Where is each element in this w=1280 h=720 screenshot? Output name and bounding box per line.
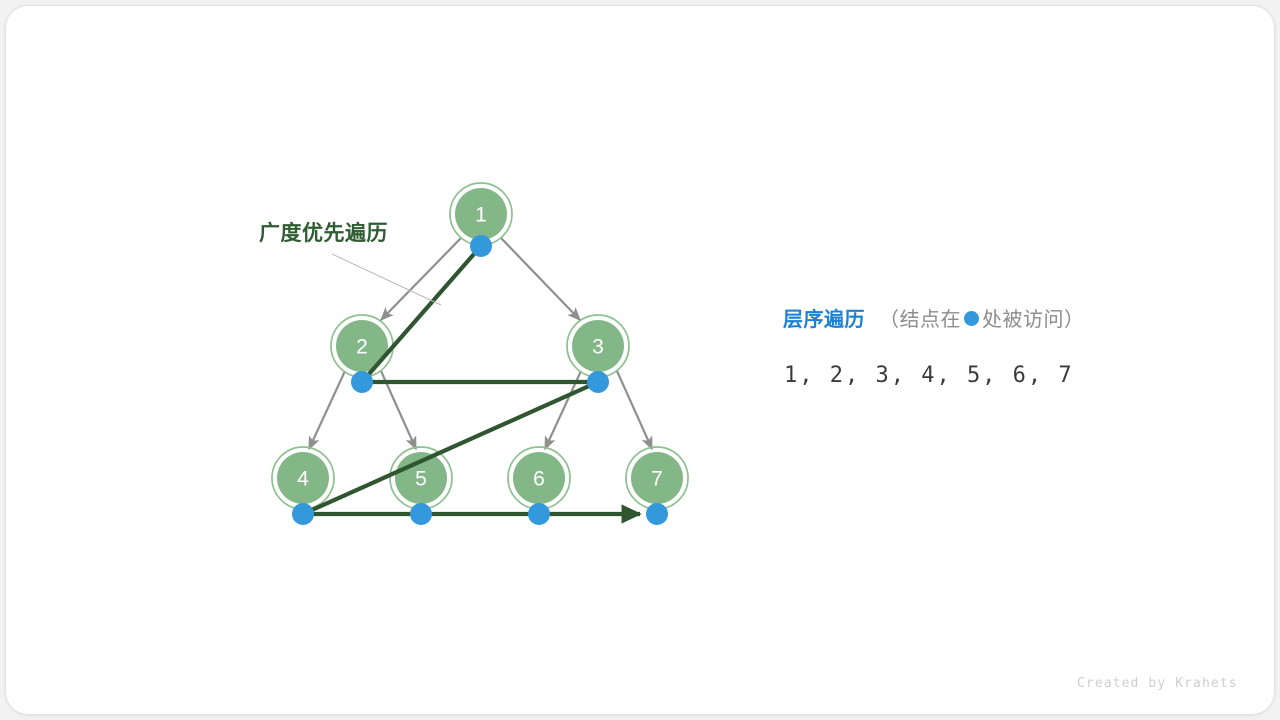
node-3-visit-dot[interactable] [587,371,609,393]
tree-node-2[interactable]: 2 [331,315,393,377]
bfs-label-leader-line [332,254,441,305]
node-5-visit-dot[interactable] [410,503,432,525]
legend-paren-before: （结点在 [879,303,961,332]
node-5-label: 5 [415,468,427,491]
screenshot-stage: 1 2 3 4 5 [0,0,1280,720]
blue-dot-icon [964,311,979,326]
node-6-visit-dot[interactable] [528,503,550,525]
tree-node-5[interactable]: 5 [390,447,452,509]
node-7-visit-dot[interactable] [646,503,668,525]
tree-edge-1-2 [381,238,461,320]
tree-edge-3-7 [617,371,652,449]
node-2-visit-dot[interactable] [351,371,373,393]
node-4-label: 4 [297,468,309,491]
tree-node-7[interactable]: 7 [626,447,688,509]
tree-node-4[interactable]: 4 [272,447,334,509]
node-3-label: 3 [592,336,604,359]
node-1-label: 1 [475,204,487,227]
tree-node-6[interactable]: 6 [508,447,570,509]
legend-paren-after: 处被访问） [982,303,1085,332]
legend: 层序遍历 （结点在 处被访问） [783,303,1085,332]
node-1-visit-dot[interactable] [470,235,492,257]
tree-edge-1-3 [501,238,580,320]
tree-node-3[interactable]: 3 [567,315,629,377]
node-2-label: 2 [356,336,368,359]
tree-diagram: 1 2 3 4 5 [0,0,1280,720]
node-4-visit-dot[interactable] [292,503,314,525]
path-segment-1-2 [362,246,481,382]
legend-title: 层序遍历 [783,303,865,332]
traversal-sequence: 1, 2, 3, 4, 5, 6, 7 [784,363,1074,388]
node-6-label: 6 [533,468,545,491]
tree-edge-2-4 [309,371,345,449]
credit-text: Created by Krahets [1077,676,1238,691]
bfs-label: 广度优先遍历 [259,217,388,247]
node-7-label: 7 [651,468,663,491]
